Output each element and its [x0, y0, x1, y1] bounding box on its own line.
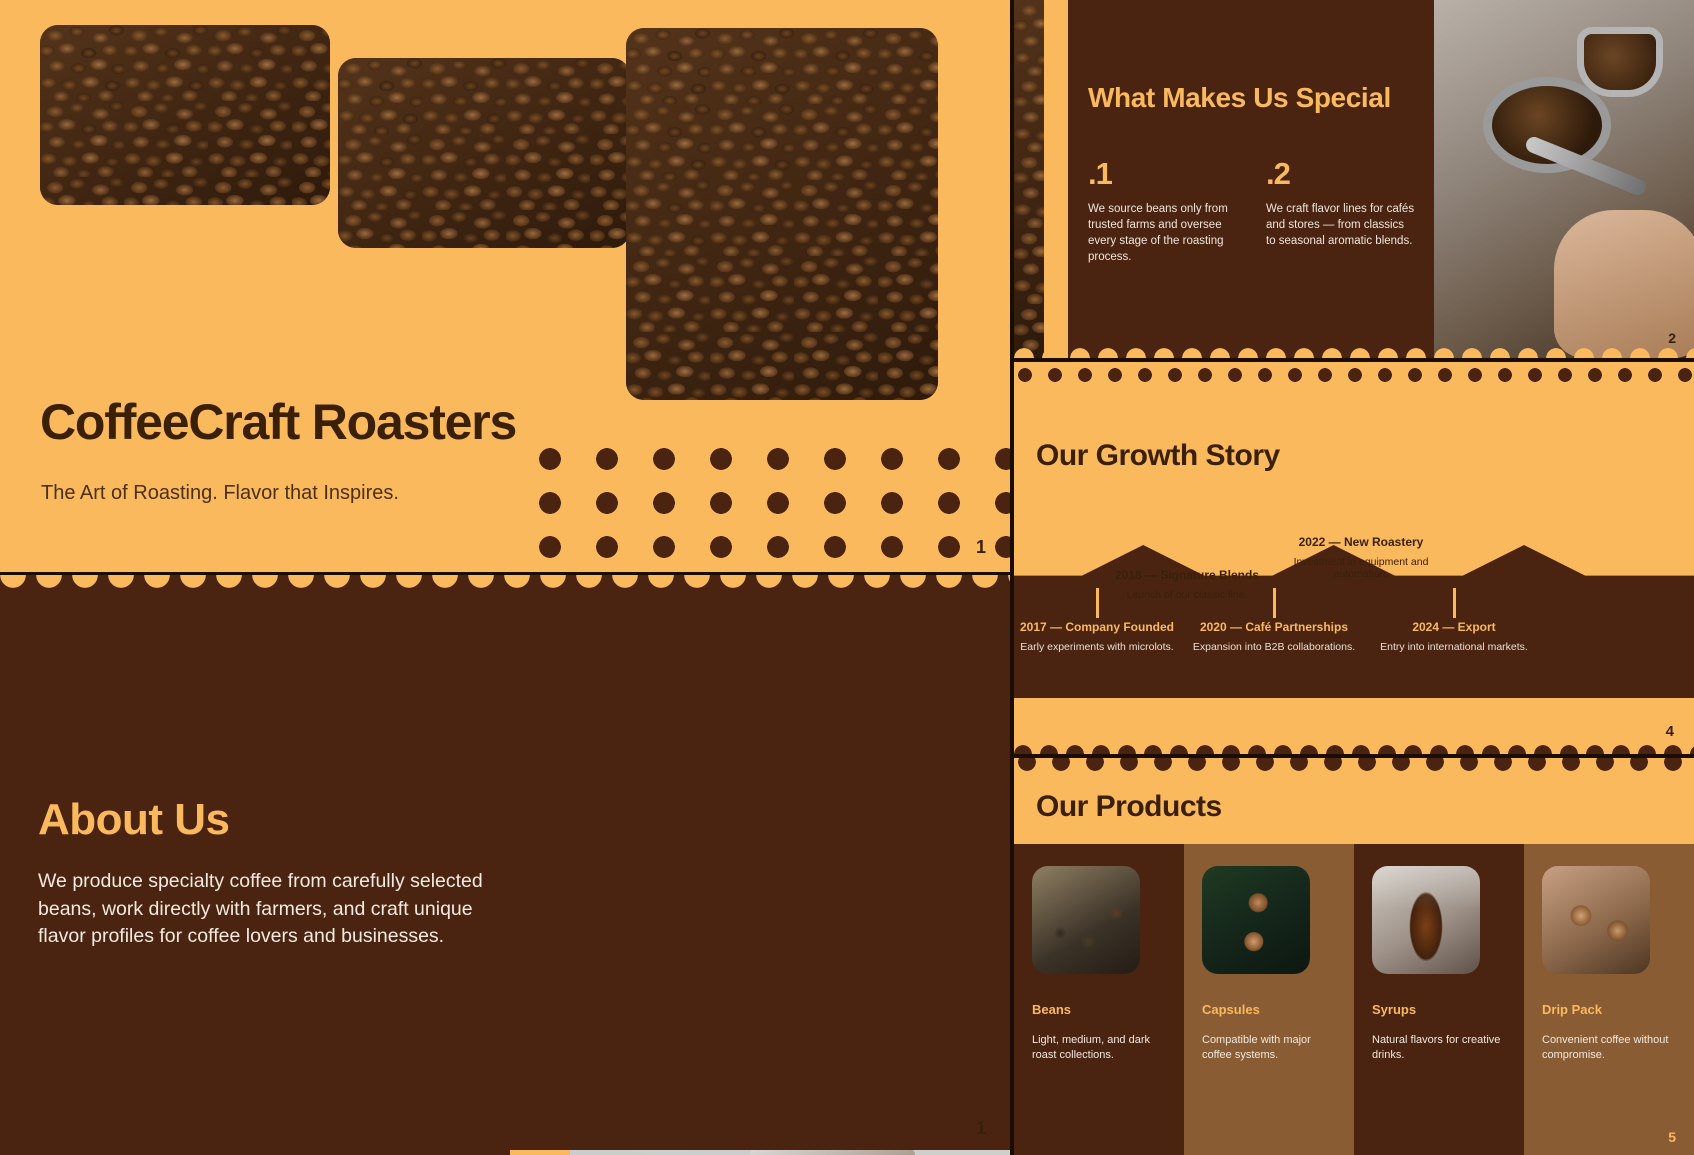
slide-number: 1 — [976, 537, 986, 558]
product-card[interactable]: Capsules Compatible with major coffee sy… — [1184, 844, 1354, 1155]
feature-point-2: .2 We craft flavor lines for cafés and s… — [1266, 158, 1416, 249]
page-title: CoffeeCraft Roasters — [40, 393, 516, 451]
about-us-body: We produce specialty coffee from careful… — [38, 868, 493, 951]
timeline-event-2020: 2020 — Café Partnerships Expansion into … — [1179, 620, 1369, 653]
slide-number: 5 — [1668, 1129, 1676, 1145]
feature-point-1: .1 We source beans only from trusted far… — [1088, 158, 1238, 265]
feature-number: .1 — [1088, 158, 1238, 189]
iced-coffee-syrup-thumb — [1372, 866, 1480, 974]
timeline-event-2024: 2024 — Export Entry into international m… — [1359, 620, 1549, 653]
coffee-beans-thumb — [1032, 866, 1140, 974]
coffee-beans-photo-3 — [626, 28, 938, 400]
product-name: Beans — [1032, 1002, 1166, 1017]
product-card[interactable]: Drip Pack Convenient coffee without comp… — [1524, 844, 1694, 1155]
product-description: Natural flavors for creative drinks. — [1372, 1033, 1506, 1064]
slide-products[interactable]: Our Products Beans Light, medium, and da… — [1014, 758, 1694, 1155]
timeline-event-2017: 2017 — Company Founded Early experiments… — [1014, 620, 1192, 653]
slide-about-us[interactable]: 1 — [0, 575, 1010, 1155]
timeline-event-2018: 2018 — Signature Blends Launch of our cl… — [1092, 568, 1282, 601]
timeline-description: Launch of our classic line. — [1092, 589, 1282, 601]
timeline-description: Early experiments with microlots. — [1014, 641, 1192, 653]
product-name: Capsules — [1202, 1002, 1336, 1017]
timeline-year: 2020 — Café Partnerships — [1179, 620, 1369, 634]
slide1-photo-group — [0, 0, 1010, 430]
polka-dot-band — [1014, 758, 1694, 782]
timeline-year: 2017 — Company Founded — [1014, 620, 1192, 634]
polka-dot-pattern — [536, 445, 1010, 572]
about-us-title: About Us — [38, 795, 230, 845]
feature-text: We craft flavor lines for cafés and stor… — [1266, 201, 1416, 249]
page-title: Our Growth Story — [1036, 439, 1280, 473]
scallop-edge-decoration — [1014, 338, 1694, 358]
product-name: Drip Pack — [1542, 1002, 1676, 1017]
coffee-beans-photo-2 — [338, 58, 630, 248]
polka-dot-band — [1014, 362, 1694, 388]
product-card[interactable]: Beans Light, medium, and dark roast coll… — [1014, 844, 1184, 1155]
product-description: Light, medium, and dark roast collection… — [1032, 1033, 1166, 1064]
feature-text: We source beans only from trusted farms … — [1088, 201, 1238, 265]
timeline-description: Expansion into B2B collaborations. — [1179, 641, 1369, 653]
scallop-edge-decoration — [0, 575, 1010, 601]
amber-accent-stripe — [1044, 0, 1068, 358]
slide-growth-story[interactable]: Our Growth Story 2018 — Signature Blends… — [1014, 362, 1694, 754]
timeline-year: 2018 — Signature Blends — [1092, 568, 1282, 582]
page-title: Our Products — [1036, 790, 1222, 824]
page-title: What Makes Us Special — [1088, 82, 1391, 114]
iced-latte-pour-photo — [510, 1150, 1010, 1155]
timeline-year: 2024 — Export — [1359, 620, 1549, 634]
page-subtitle: The Art of Roasting. Flavor that Inspire… — [41, 482, 399, 505]
edge-beans-strip — [1014, 0, 1044, 358]
scallop-edge-decoration — [1014, 736, 1694, 754]
coffee-capsules-thumb — [1202, 866, 1310, 974]
timeline-year: 2022 — New Roastery — [1266, 535, 1456, 549]
portafilter-espresso-photo: 2 — [1434, 0, 1694, 358]
product-card-list: Beans Light, medium, and dark roast coll… — [1014, 844, 1694, 1155]
product-description: Compatible with major coffee systems. — [1202, 1033, 1336, 1064]
presentation-board: CoffeeCraft Roasters The Art of Roasting… — [0, 0, 1694, 1155]
slide-number: 1 — [976, 1118, 986, 1139]
product-card[interactable]: Syrups Natural flavors for creative drin… — [1354, 844, 1524, 1155]
product-name: Syrups — [1372, 1002, 1506, 1017]
product-description: Convenient coffee without compromise. — [1542, 1033, 1676, 1064]
coffee-beans-photo-1 — [40, 25, 330, 205]
timeline-event-2022: 2022 — New Roastery Investment in equipm… — [1266, 535, 1456, 580]
timeline-description: Investment in equipment and automation. — [1291, 556, 1431, 580]
latte-art-thumb — [1542, 866, 1650, 974]
slide-title[interactable]: CoffeeCraft Roasters The Art of Roasting… — [0, 0, 1010, 572]
feature-number: .2 — [1266, 158, 1416, 189]
timeline-description: Entry into international markets. — [1359, 641, 1549, 653]
slide-what-makes-us-special[interactable]: What Makes Us Special .1 We source beans… — [1014, 0, 1694, 358]
